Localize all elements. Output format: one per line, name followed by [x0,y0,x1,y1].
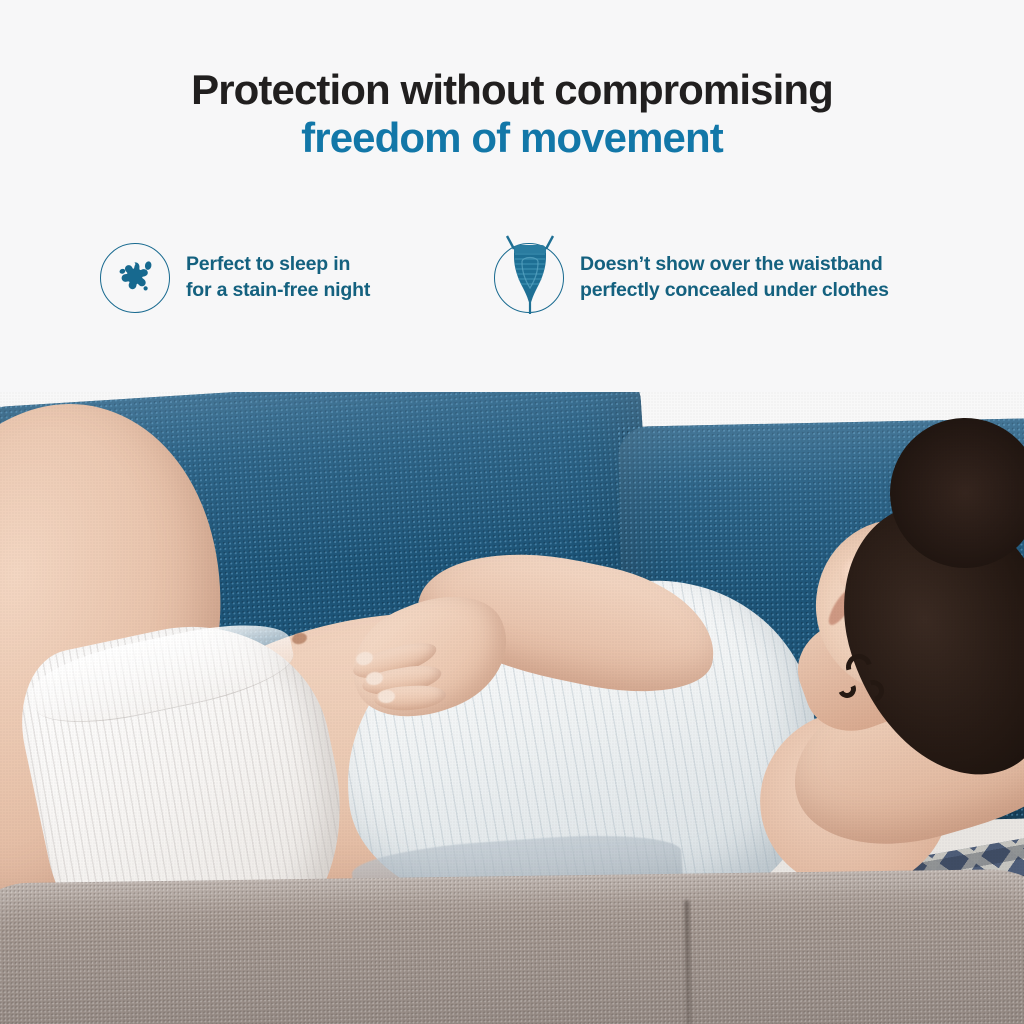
seat-fabric-texture [0,868,1024,1024]
promo-page: Protection without compromising freedom … [0,0,1024,1024]
feature-item-discreet: Doesn’t show over the waistband perfectl… [494,243,889,313]
headline-line-2: freedom of movement [0,113,1024,163]
feature-text-discreet: Doesn’t show over the waistband perfectl… [580,252,889,303]
sofa-seat-cushion [0,868,1024,1024]
feature-list: Perfect to sleep in for a stain-free nig… [0,243,1024,338]
lifestyle-photo [0,380,1024,1024]
liquid-splash-icon [100,243,170,313]
headline-line-1: Protection without compromising [0,66,1024,113]
page-title: Protection without compromising freedom … [0,66,1024,163]
feature-line-1: Doesn’t show over the waistband [580,252,889,278]
feature-line-2: perfectly concealed under clothes [580,278,889,304]
feature-item-sleep: Perfect to sleep in for a stain-free nig… [100,243,370,313]
feature-line-1: Perfect to sleep in [186,252,370,278]
feature-text-sleep: Perfect to sleep in for a stain-free nig… [186,252,370,303]
header-section: Protection without compromising freedom … [0,0,1024,392]
feature-line-2: for a stain-free night [186,278,370,304]
absorbent-underwear-icon [494,243,564,313]
